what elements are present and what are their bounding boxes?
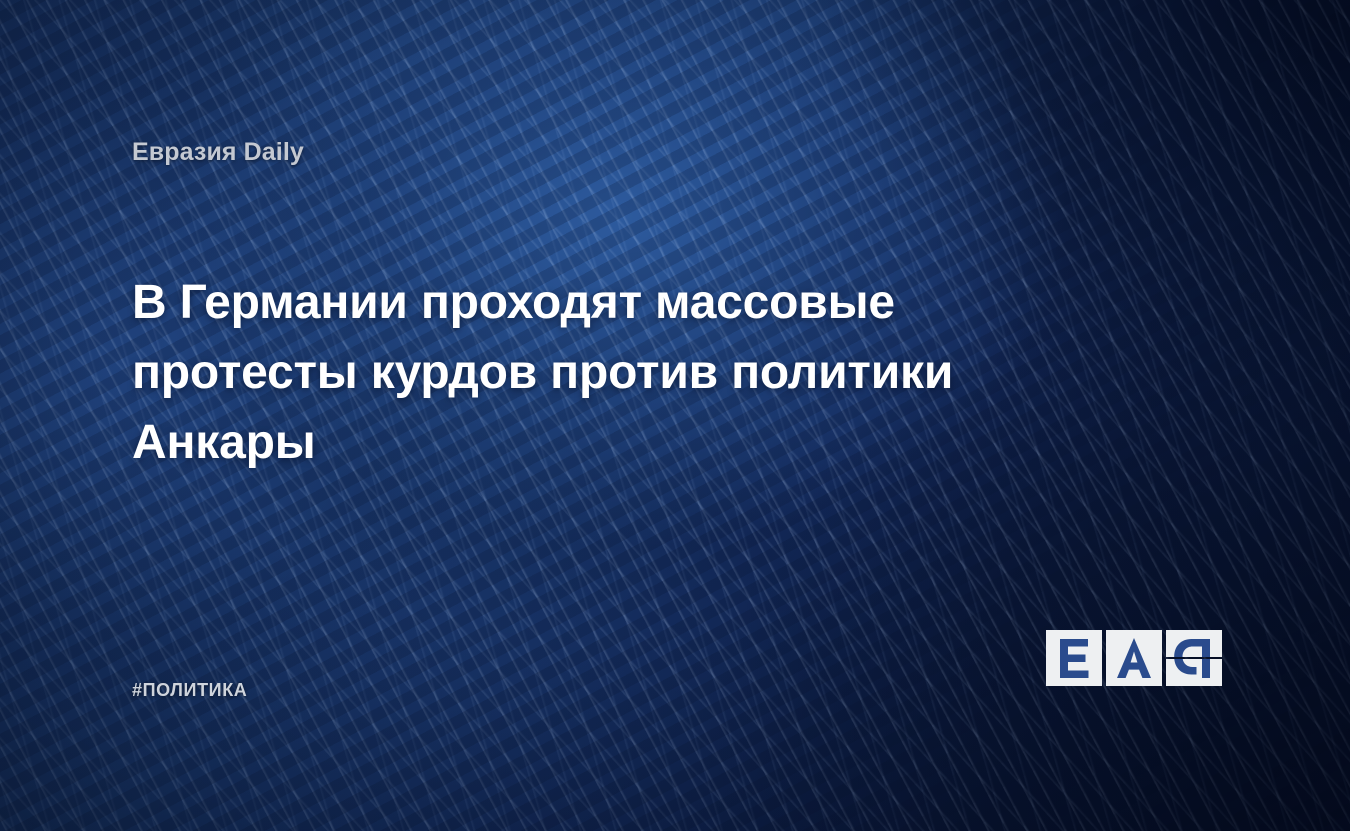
letter-a-icon [1106,630,1162,686]
logo-tile-d [1166,630,1222,686]
ead-logo [1046,630,1222,686]
headline-line-2: протесты курдов против политики [132,338,1132,408]
letter-e-icon [1046,630,1102,686]
logo-tile-a [1106,630,1162,686]
logo-tile-e [1046,630,1102,686]
category-tag[interactable]: #ПОЛИТИКА [132,680,247,701]
news-share-card: Евразия Daily В Германии проходят массов… [0,0,1350,831]
headline-line-3: Анкары [132,408,1132,478]
page-title: В Германии проходят массовые протесты ку… [132,268,1132,478]
letter-d-upper-half [1166,630,1222,657]
brand-name: Евразия Daily [132,138,304,167]
letter-d-lower-half [1166,659,1222,686]
letter-d-icon-mirror [1166,659,1222,686]
card-content: Евразия Daily В Германии проходят массов… [0,0,1350,831]
letter-d-icon [1166,630,1222,657]
headline-line-1: В Германии проходят массовые [132,268,1132,338]
